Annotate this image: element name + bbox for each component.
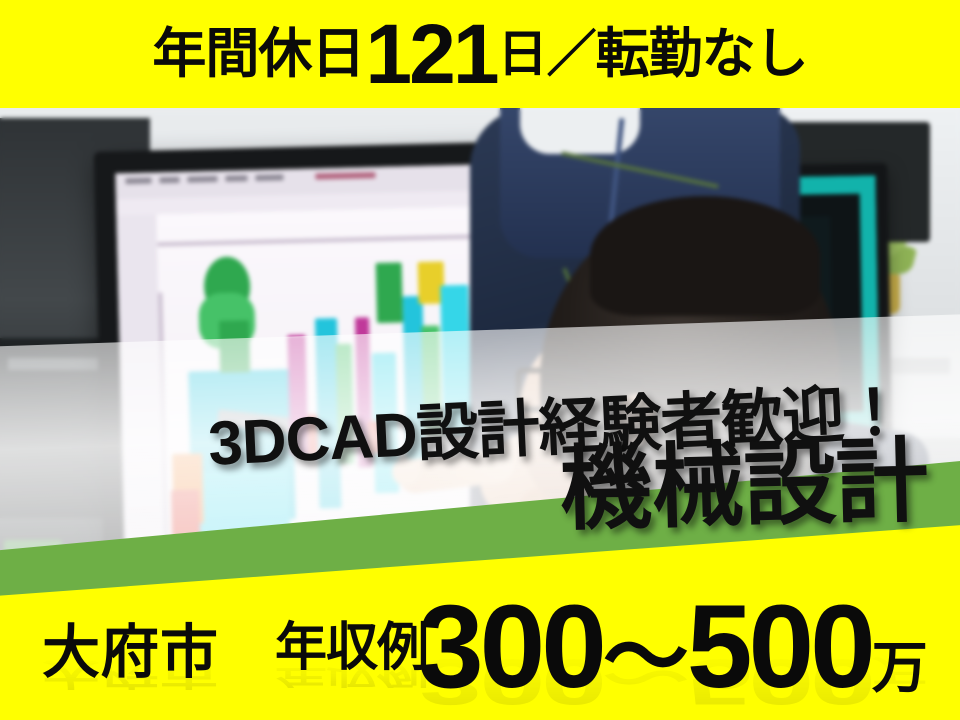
salary-min: 300 (418, 581, 603, 713)
header-benefit-unit: 日 (498, 29, 547, 79)
salary-range-mark: 〜 (603, 610, 687, 706)
salary-max: 500 (687, 581, 872, 713)
header-benefit-suffix: 転勤なし (596, 27, 808, 81)
salary-label: 年収例 (275, 622, 428, 674)
location-text: 大府市 (42, 624, 219, 682)
top-yellow-banner: 年間休日 121 日 ／ 転勤なし (0, 0, 960, 108)
salary-value: 300〜500万 (418, 588, 928, 706)
job-ad-poster: 年間休日 121 日 ／ 転勤なし (0, 0, 960, 720)
header-benefit-number: 121 (365, 12, 496, 96)
job-title-headline: 機械設計 (559, 436, 929, 537)
header-separator: ／ (547, 29, 596, 79)
salary-unit: 万 (872, 636, 928, 699)
seated-engineer-hair-top (590, 196, 820, 316)
header-benefit-prefix: 年間休日 (152, 27, 364, 81)
header-benefit-line: 年間休日 121 日 ／ 転勤なし (0, 0, 960, 108)
